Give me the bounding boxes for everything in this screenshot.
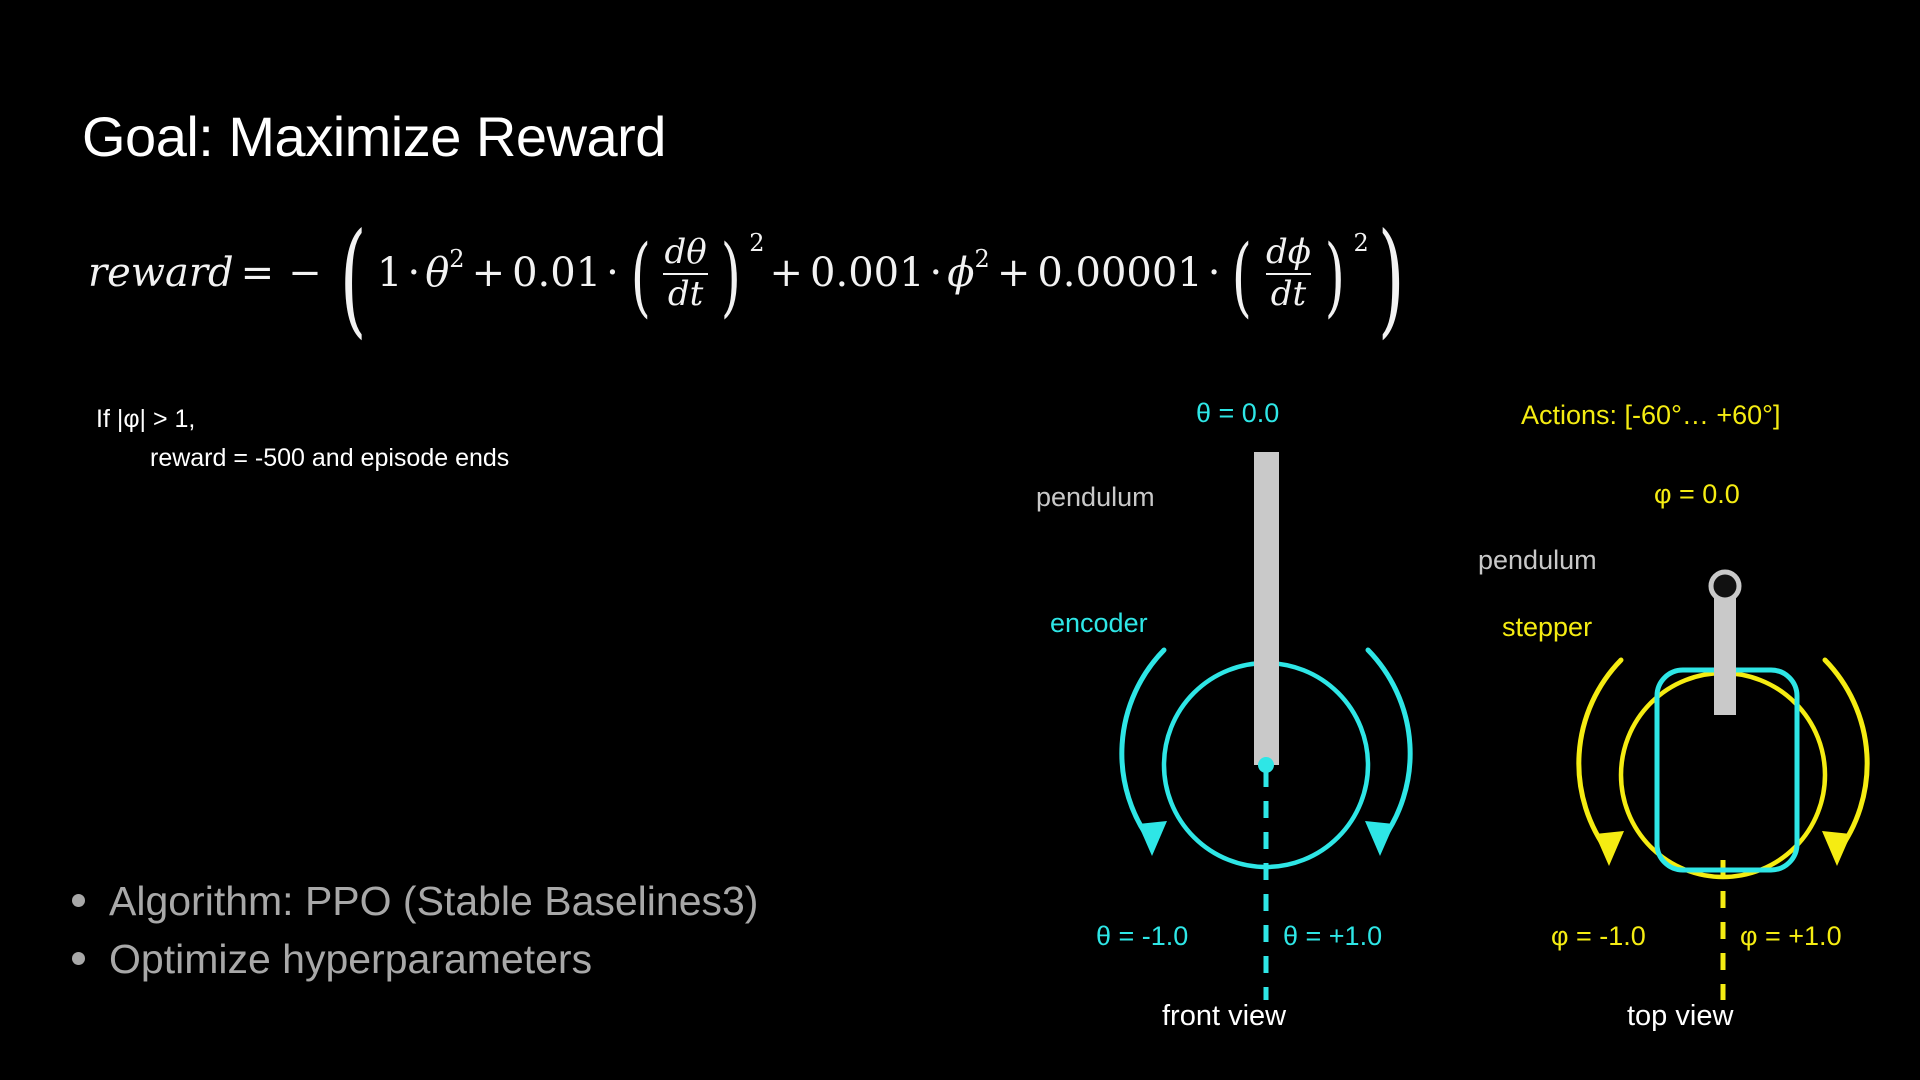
top-view-pendulum-tip <box>1711 572 1739 600</box>
top-view-phi-plus-label: φ = +1.0 <box>1740 921 1842 952</box>
front-view-pivot-point <box>1258 757 1274 773</box>
front-view-pendulum-label: pendulum <box>1036 482 1155 513</box>
top-view-caption: top view <box>1627 1000 1733 1033</box>
front-view-caption: front view <box>1162 1000 1286 1033</box>
front-view-arrow-head-left <box>1138 821 1167 856</box>
top-view-phi-minus-label: φ = -1.0 <box>1551 921 1646 952</box>
front-view-theta-zero-label: θ = 0.0 <box>1196 398 1279 429</box>
front-view-encoder-label: encoder <box>1050 608 1148 639</box>
front-view-diagram <box>1122 452 1410 1000</box>
front-view-theta-plus-label: θ = +1.0 <box>1283 921 1382 952</box>
front-view-pendulum-rod <box>1254 452 1279 765</box>
pendulum-diagrams <box>0 0 1920 1080</box>
front-view-rotation-arc-right <box>1368 650 1410 843</box>
top-view-rotation-arc-left <box>1579 660 1621 853</box>
front-view-arrow-head-right <box>1365 821 1394 856</box>
front-view-theta-minus-label: θ = -1.0 <box>1096 921 1188 952</box>
top-view-arrow-head-right <box>1822 831 1851 866</box>
top-view-stepper-label: stepper <box>1502 612 1592 643</box>
front-view-rotation-arc-left <box>1122 650 1164 843</box>
top-view-pendulum-label: pendulum <box>1478 545 1597 576</box>
top-view-actions-label: Actions: [-60°… +60°] <box>1521 400 1780 431</box>
top-view-rotation-arc-right <box>1825 660 1867 853</box>
top-view-phi-zero-label: φ = 0.0 <box>1654 479 1740 510</box>
top-view-arrow-head-left <box>1595 831 1624 866</box>
